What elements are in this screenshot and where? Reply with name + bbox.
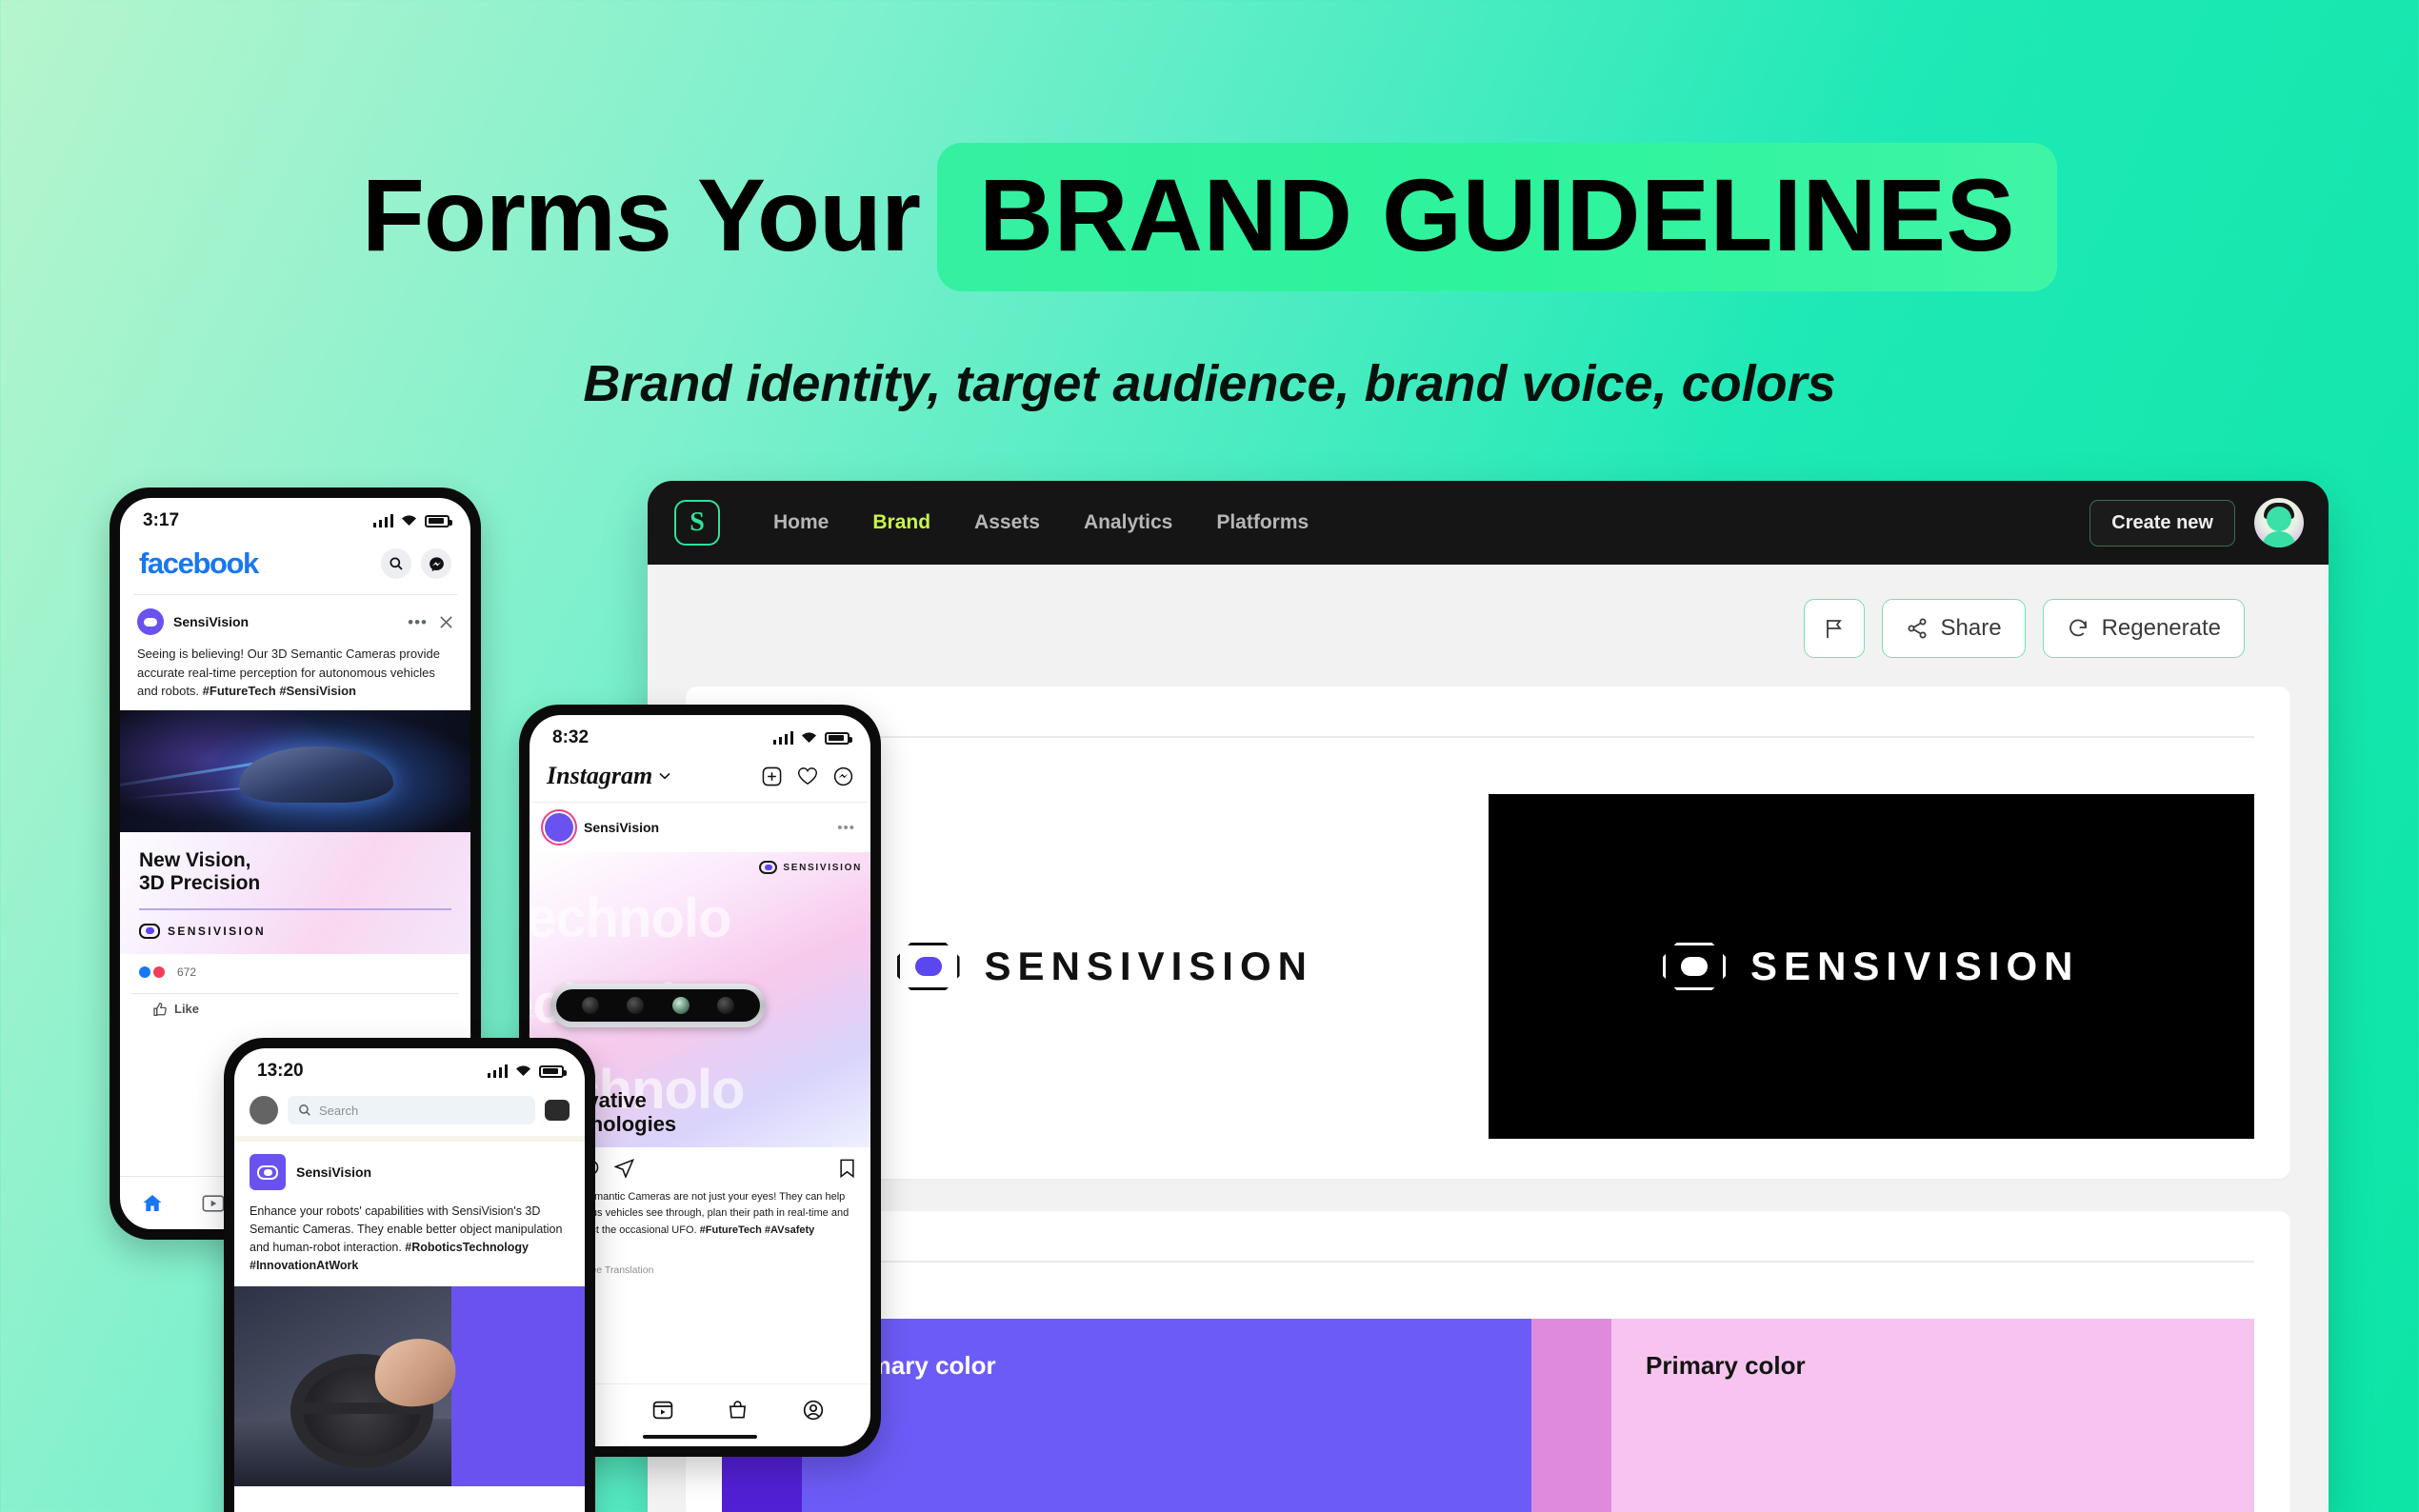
top-nav: S Home Brand Assets Analytics Platforms … [648, 481, 2329, 565]
messenger-icon[interactable] [833, 766, 853, 786]
nav-item-assets[interactable]: Assets [974, 511, 1040, 534]
post-text: Seeing is believing! Our 3D Semantic Cam… [137, 645, 453, 701]
home-indicator [643, 1435, 757, 1439]
love-reaction-icon [151, 965, 167, 980]
reaction-count: 672 [177, 965, 196, 979]
flag-button[interactable] [1804, 599, 1865, 658]
colors-section-card: COLORS Primary color Primary color [686, 1211, 2290, 1512]
swatch-body: Primary color [802, 1319, 1531, 1512]
post-actions: Like [131, 993, 459, 1026]
avatar[interactable] [2254, 498, 2304, 547]
nav-item-home[interactable]: Home [773, 511, 829, 534]
reaction-row: 672 [120, 954, 470, 985]
add-post-icon[interactable] [762, 766, 782, 786]
nav-item-brand[interactable]: Brand [872, 511, 930, 534]
instagram-post-header: SensiVision ••• [530, 803, 870, 852]
hero-banner: Forms YourBRAND GUIDELINES Brand identit… [0, 0, 2419, 467]
status-bar: 13:20 [234, 1048, 585, 1087]
color-swatches: Primary color Primary color [722, 1319, 2254, 1512]
logo-wordmark-light: SENSIVISION [985, 944, 1313, 989]
facebook-header-actions [381, 548, 451, 579]
instagram-logo: Instagram [547, 762, 652, 790]
post-author: SensiVision [173, 614, 249, 629]
app-window: S Home Brand Assets Analytics Platforms … [648, 481, 2329, 1512]
nav-right-group: Create new [2089, 498, 2304, 547]
logo-section-header: LOGO [722, 723, 2254, 750]
swatch-edge [1531, 1319, 1611, 1512]
thumbs-up-icon [152, 1002, 168, 1017]
status-icons [373, 514, 450, 527]
linkedin-screen: 13:20 Search SensiVision Enhance your ro… [234, 1048, 585, 1512]
section-divider [854, 1261, 2254, 1263]
battery-icon [539, 1065, 564, 1078]
signal-icon [488, 1064, 509, 1078]
regenerate-label: Regenerate [2102, 615, 2221, 642]
shop-icon[interactable] [728, 1400, 748, 1421]
instagram-header-actions [762, 766, 853, 786]
status-icons [773, 731, 850, 745]
battery-icon [425, 515, 450, 527]
post-header-actions: ••• [408, 614, 453, 630]
nav-item-platforms[interactable]: Platforms [1216, 511, 1309, 534]
nav-links: Home Brand Assets Analytics Platforms [773, 511, 1309, 534]
post-author: SensiVision [296, 1164, 371, 1180]
watermark-label: SENSIVISION [783, 863, 862, 873]
logo-lockup-light: SENSIVISION [897, 943, 1313, 990]
share-icon[interactable] [614, 1159, 634, 1178]
brand-watermark: SENSIVISION [759, 861, 862, 874]
author-avatar[interactable] [545, 813, 573, 842]
search-placeholder: Search [319, 1104, 358, 1118]
swatch-body: Primary color [1611, 1319, 2254, 1512]
sensor-inner [556, 989, 760, 1022]
linkedin-post-header: SensiVision [234, 1142, 585, 1190]
messenger-icon[interactable] [421, 548, 451, 579]
avatar-body [2262, 531, 2296, 547]
facebook-header: facebook [120, 537, 470, 594]
swatch-label: Primary color [1646, 1351, 2254, 1381]
sensivision-mark-icon [759, 861, 777, 874]
camera-lens [582, 997, 599, 1014]
brand-card-title: New Vision, 3D Precision [139, 849, 451, 897]
page-title: Forms YourBRAND GUIDELINES [0, 143, 2419, 291]
sensivision-mark-icon [1663, 943, 1726, 990]
sensivision-mark-icon [139, 924, 160, 939]
card-lockup: SENSIVISION [139, 924, 451, 939]
ghost-text: Technolo [530, 886, 730, 950]
wifi-icon [801, 731, 817, 745]
author-logo [250, 1154, 286, 1190]
status-bar: 3:17 [120, 498, 470, 537]
instagram-header: Instagram [530, 754, 870, 802]
share-label: Share [1941, 615, 2002, 642]
like-reaction-icon [137, 965, 152, 980]
swatch-label: Primary color [836, 1351, 1531, 1381]
refresh-icon [2067, 617, 2089, 640]
logo-section-card: LOGO SENSIVISION SENSIVISION [686, 686, 2290, 1179]
logo-lockup-dark: SENSIVISION [1663, 943, 2079, 990]
share-icon [1906, 617, 1929, 640]
card-title-line2: 3D Precision [139, 872, 260, 894]
facebook-post: SensiVision ••• Seeing is believing! Our… [120, 595, 470, 701]
status-bar: 8:32 [530, 715, 870, 754]
search-icon[interactable] [381, 548, 411, 579]
search-input[interactable]: Search [288, 1096, 535, 1124]
close-icon [439, 615, 453, 629]
battery-icon [825, 732, 850, 745]
nav-item-analytics[interactable]: Analytics [1084, 511, 1172, 534]
reels-icon[interactable] [652, 1400, 673, 1421]
page-canvas: Share Regenerate LOGO SENSIVISION [648, 565, 2329, 1512]
phone-mockup-linkedin: 13:20 Search SensiVision Enhance your ro… [224, 1038, 595, 1512]
author-avatar [137, 608, 164, 635]
signal-icon [373, 514, 394, 527]
linkedin-header: Search [234, 1087, 585, 1136]
logo-tiles: SENSIVISION SENSIVISION [722, 794, 2254, 1139]
heart-icon[interactable] [797, 766, 818, 786]
more-options-icon[interactable]: ••• [837, 821, 855, 835]
flag-icon [1824, 617, 1845, 640]
post-header: SensiVision ••• [137, 608, 453, 635]
avatar[interactable] [250, 1096, 278, 1124]
page-subtitle: Brand identity, target audience, brand v… [0, 354, 2419, 413]
status-icons [488, 1064, 565, 1078]
logo-wordmark-dark: SENSIVISION [1750, 944, 2079, 989]
status-time: 13:20 [257, 1061, 304, 1082]
post-image [234, 1286, 585, 1486]
camera-lens [672, 997, 690, 1014]
car-silhouette [239, 746, 393, 803]
headline-highlight: BRAND GUIDELINES [937, 143, 2057, 291]
chevron-down-icon [659, 772, 670, 780]
accent-panel [451, 1286, 585, 1486]
camera-lens [627, 997, 644, 1014]
content-toolbar: Share Regenerate [686, 565, 2290, 686]
facebook-logo: facebook [139, 547, 258, 581]
wifi-icon [401, 514, 417, 527]
camera-lens [717, 997, 734, 1014]
search-icon [298, 1104, 311, 1117]
post-text: Enhance your robots' capabilities with S… [234, 1190, 585, 1275]
section-divider [821, 736, 2254, 738]
logo-tile-dark[interactable]: SENSIVISION [1489, 794, 2255, 1139]
video-icon[interactable] [202, 1194, 225, 1213]
colors-section-header: COLORS [722, 1247, 2254, 1275]
brand-card: New Vision, 3D Precision SENSIVISION [120, 832, 470, 954]
post-image [120, 710, 470, 832]
post-author: SensiVision [584, 820, 659, 835]
regenerate-button[interactable]: Regenerate [2043, 599, 2245, 658]
camera-sensor-bar [550, 984, 766, 1027]
instagram-logo-group[interactable]: Instagram [547, 762, 670, 790]
status-time: 3:17 [143, 510, 179, 531]
card-divider [139, 908, 451, 910]
signal-icon [773, 731, 794, 745]
bookmark-icon[interactable] [839, 1159, 855, 1178]
messaging-icon[interactable] [545, 1100, 570, 1121]
like-label[interactable]: Like [174, 1002, 199, 1016]
app-logo-icon[interactable]: S [674, 500, 720, 546]
avatar-face [2267, 507, 2291, 531]
status-time: 8:32 [552, 727, 589, 748]
card-title-line1: New Vision, [139, 849, 250, 871]
color-swatch-primary-pink[interactable]: Primary color [1531, 1319, 2254, 1512]
more-options-icon[interactable]: ••• [408, 614, 428, 630]
home-icon[interactable] [141, 1192, 164, 1215]
share-button[interactable]: Share [1882, 599, 2026, 658]
create-new-button[interactable]: Create new [2089, 500, 2235, 547]
sensivision-mark-icon [897, 943, 960, 990]
headline-plain: Forms Your [362, 157, 920, 272]
post-hashtags: #FutureTech #SensiVision [203, 684, 356, 698]
profile-icon[interactable] [803, 1400, 824, 1421]
wifi-icon [515, 1064, 531, 1078]
card-wordmark: SENSIVISION [168, 925, 266, 938]
